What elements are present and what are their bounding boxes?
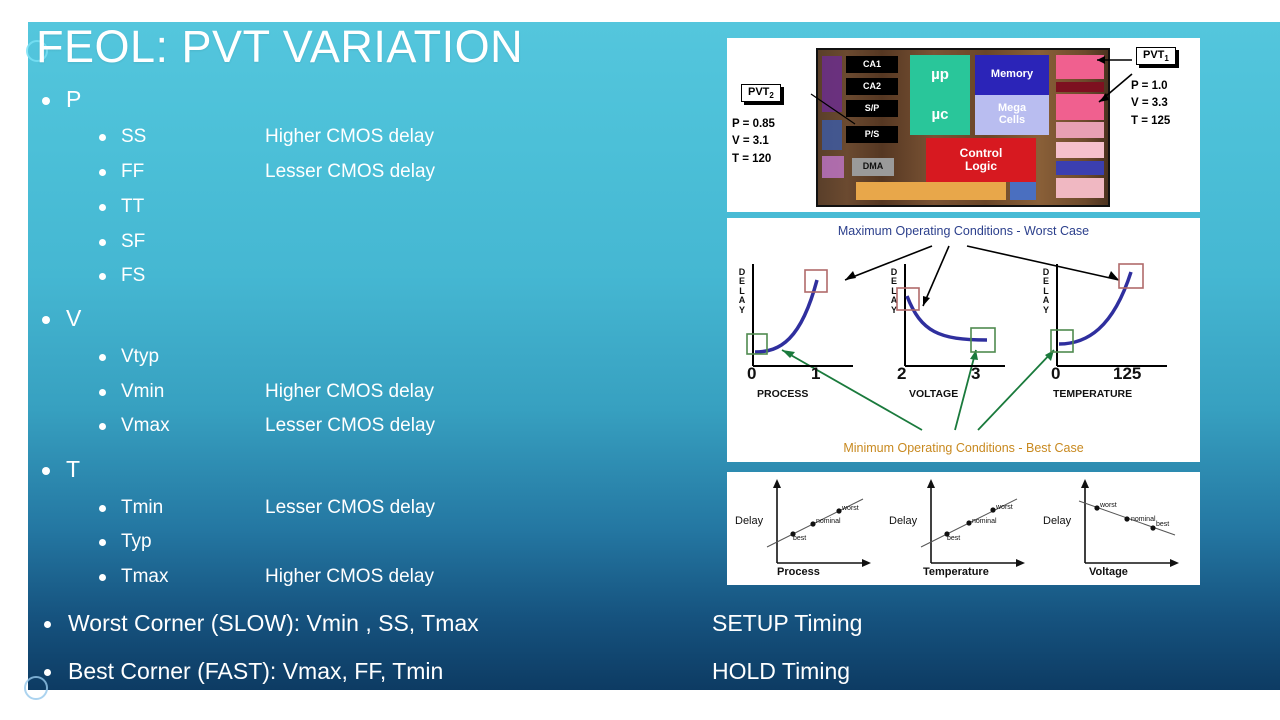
trend-plot-voltage: Delay worst nominal best Voltage	[1043, 477, 1193, 580]
outline-label: FS	[121, 265, 145, 287]
outline-label: TT	[121, 196, 144, 218]
bullet-dot	[99, 354, 106, 361]
axis-name-voltage: VOLTAGE	[909, 388, 958, 400]
outline-body: P SS Higher CMOS delay FF Lesser CMOS de…	[0, 0, 720, 720]
callout-sub: 2	[769, 91, 773, 100]
outline-label: Vtyp	[121, 346, 159, 368]
outline-note: Lesser CMOS delay	[265, 161, 435, 183]
curve-plot-temperature: D E L A Y 0 125 TEMPERATURE	[1039, 260, 1169, 410]
slide-root: FEOL: PVT VARIATION P SS Higher CMOS del…	[0, 0, 1280, 720]
bullet-dot	[99, 134, 106, 141]
bullet-dot	[99, 204, 106, 211]
outline-note: Higher CMOS delay	[265, 381, 434, 403]
callout-sub: 1	[1164, 54, 1168, 63]
callout-pvt1-values: P = 1.0 V = 3.3 T = 125	[1131, 78, 1170, 130]
bullet-dot	[42, 316, 50, 324]
bullet-dot	[42, 467, 50, 475]
outline-label: V	[66, 305, 81, 332]
outline-label: Tmin	[121, 497, 163, 519]
outline-note: Higher CMOS delay	[265, 126, 434, 148]
bullet-dot	[99, 423, 106, 430]
outline-label: SF	[121, 231, 145, 253]
corner-note: HOLD Timing	[712, 658, 850, 685]
trend-plot-process: Delay best nominal worst Process	[735, 477, 885, 580]
bullet-dot	[99, 574, 106, 581]
figure-die-photo: CA1 CA2 S/P P/S DMA µp µc Memory Mega Ce…	[727, 38, 1200, 212]
axis-name-voltage: Voltage	[1089, 566, 1128, 578]
point-label-nominal: nominal	[1131, 516, 1156, 523]
bullet-dot	[99, 273, 106, 280]
corner-label: Worst Corner (SLOW): Vmin , SS, Tmax	[68, 610, 479, 637]
axis-name-process: PROCESS	[757, 388, 808, 400]
axis-name-temperature: Temperature	[923, 566, 989, 578]
axis-name-temperature: TEMPERATURE	[1053, 388, 1132, 400]
outline-label: Vmax	[121, 415, 170, 437]
figure-delay-curves: Maximum Operating Conditions - Worst Cas…	[727, 218, 1200, 462]
trend-graphic	[735, 477, 885, 580]
callout-pvt2: PVT2	[741, 84, 781, 102]
point-label-worst: worst	[996, 504, 1013, 511]
callout-pvt1: PVT1	[1136, 47, 1176, 65]
figure-delay-trends: Delay best nominal worst Process Delay	[727, 472, 1200, 585]
outline-label: T	[66, 456, 80, 483]
bullet-dot	[99, 169, 106, 176]
outline-note: Lesser CMOS delay	[265, 415, 435, 437]
xtick-max: 3	[971, 364, 980, 384]
point-label-best: best	[1156, 521, 1169, 528]
bullet-dot	[99, 539, 106, 546]
point-label-nominal: nominal	[816, 518, 841, 525]
bullet-dot	[42, 97, 50, 105]
trend-graphic	[1043, 477, 1193, 580]
outline-label: Tmax	[121, 566, 169, 588]
corner-note: SETUP Timing	[712, 610, 862, 637]
bullet-dot	[99, 239, 106, 246]
curve-plot-process: D E L A Y 0 1 PROCESS	[735, 260, 865, 410]
outline-label: P	[66, 86, 81, 113]
xtick-min: 2	[897, 364, 906, 384]
bullet-dot	[44, 669, 51, 676]
callout-tag: PVT	[1143, 49, 1164, 61]
curve-plot-voltage: D E L A Y 2 3 VOLTAGE	[887, 260, 1017, 410]
trend-graphic	[889, 477, 1039, 580]
outline-note: Higher CMOS delay	[265, 566, 434, 588]
die-leader-lines	[727, 38, 1200, 212]
xtick-min: 0	[747, 364, 756, 384]
axis-name-process: Process	[777, 566, 820, 578]
outline-label: SS	[121, 126, 146, 148]
callout-pvt2-values: P = 0.85 V = 3.1 T = 120	[732, 116, 775, 168]
point-label-best: best	[793, 535, 806, 542]
callout-tag: PVT	[748, 86, 769, 98]
outline-label: Vmin	[121, 381, 164, 403]
bullet-dot	[99, 505, 106, 512]
point-label-best: best	[947, 535, 960, 542]
bullet-dot	[44, 621, 51, 628]
point-label-nominal: nominal	[972, 518, 997, 525]
outline-label: FF	[121, 161, 144, 183]
xtick-max: 125	[1113, 364, 1141, 384]
corner-label: Best Corner (FAST): Vmax, FF, Tmin	[68, 658, 443, 685]
point-label-worst: worst	[1100, 502, 1117, 509]
trend-plot-temperature: Delay best nominal worst Temperature	[889, 477, 1039, 580]
xtick-min: 0	[1051, 364, 1060, 384]
bullet-dot	[99, 389, 106, 396]
outline-label: Typ	[121, 531, 152, 553]
point-label-worst: worst	[842, 505, 859, 512]
xtick-max: 1	[811, 364, 820, 384]
outline-note: Lesser CMOS delay	[265, 497, 435, 519]
